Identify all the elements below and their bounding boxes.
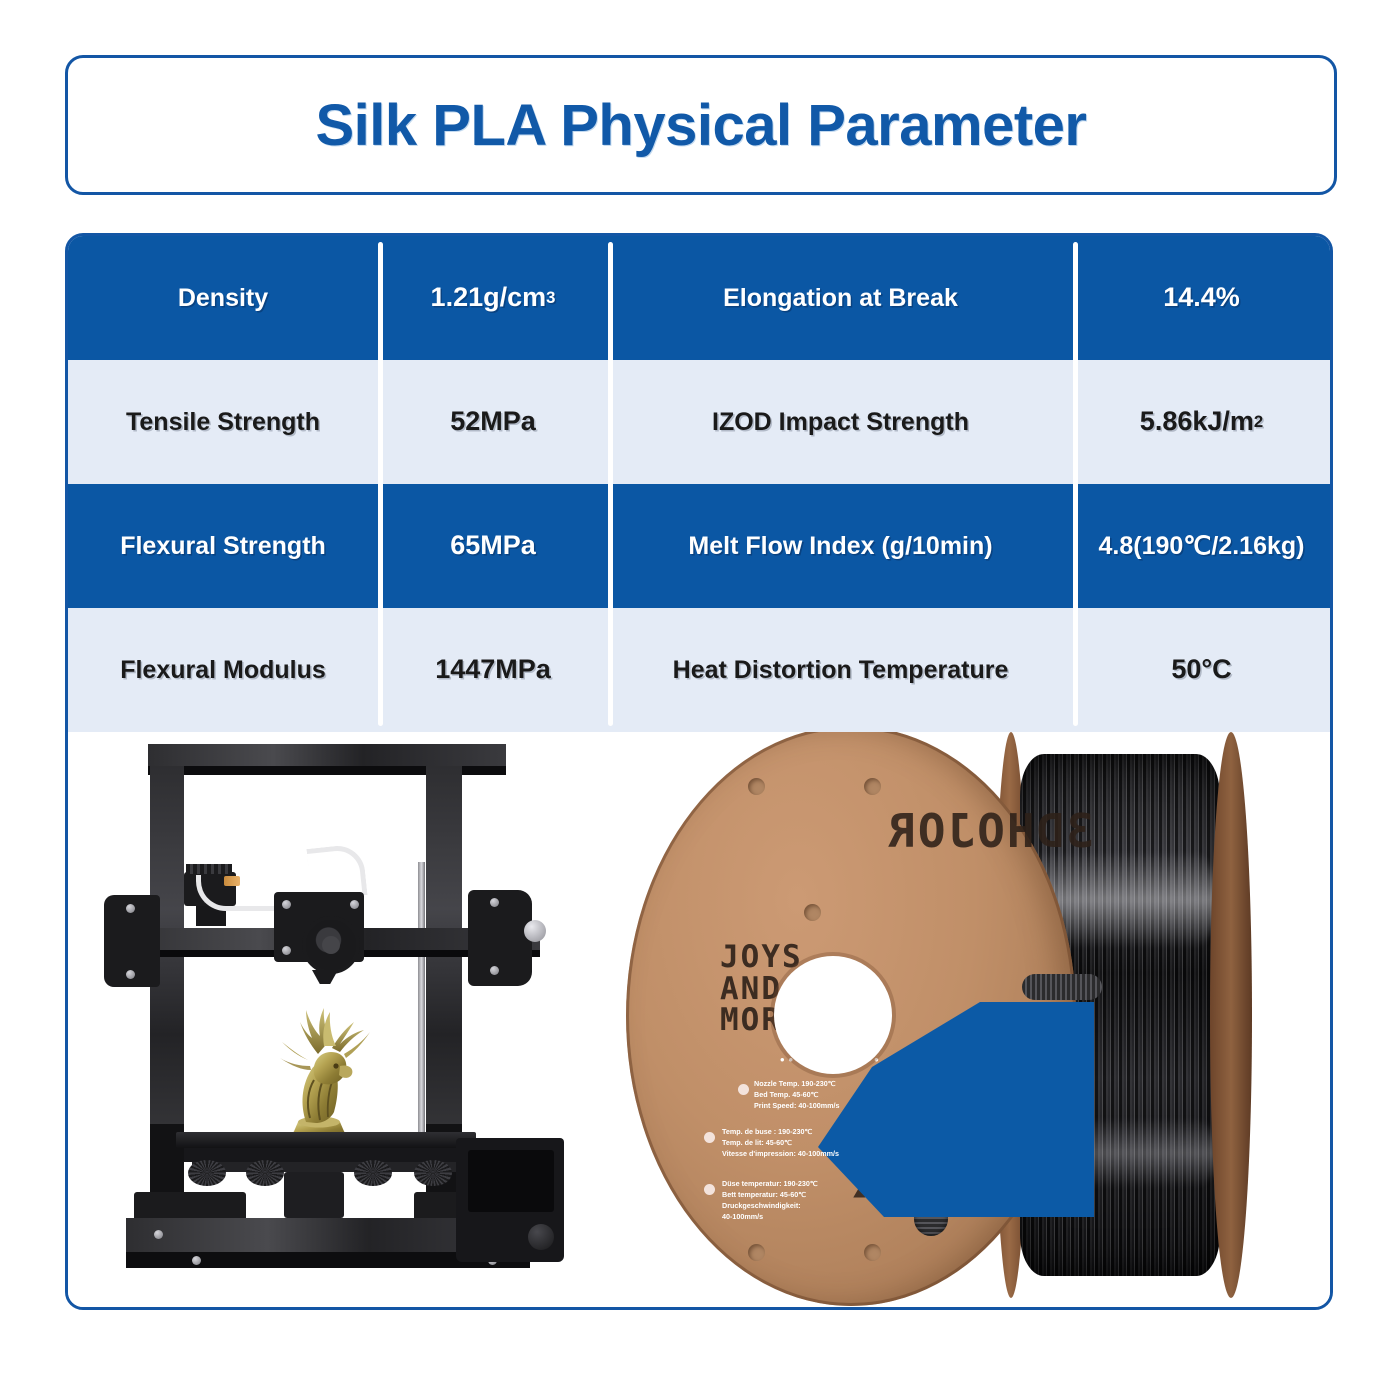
- printer-lead-screw: [418, 862, 425, 1162]
- table-row: Flexural Modulus 1447MPa Heat Distortion…: [68, 608, 1330, 732]
- table-row: Tensile Strength 52MPa IZOD Impact Stren…: [68, 360, 1330, 484]
- bed-leveling-knob: [188, 1160, 226, 1186]
- spec-value: 14.4%: [1073, 236, 1330, 360]
- spool-cardboard-disc: 3DHOJOR JOYS AND MORE: [626, 732, 1076, 1306]
- bolt: [154, 1230, 163, 1239]
- bed-leveling-knob: [246, 1160, 284, 1186]
- printer-right-bracket: [468, 890, 532, 986]
- product-photos: 3DHOJOR JOYS AND MORE: [68, 732, 1330, 1310]
- title-banner: Silk PLA Physical Parameter: [65, 55, 1337, 195]
- printed-dragon-model: [264, 986, 374, 1148]
- bed-leveling-knob: [354, 1160, 392, 1186]
- spec-line: Temp. de lit: 45-60℃: [722, 1137, 839, 1148]
- label-specs-english: Nozzle Temp. 190-230℃ Bed Temp. 45-60℃ P…: [754, 1078, 840, 1111]
- filament-spool-photo: 3DHOJOR JOYS AND MORE: [626, 732, 1326, 1310]
- nozzle: [312, 970, 338, 984]
- spec-value-text: 65MPa: [450, 530, 536, 561]
- spec-value-sup: 3: [546, 288, 555, 307]
- spec-line: Düse temperatur: 190-230℃: [722, 1178, 818, 1189]
- spec-line: Nozzle Temp. 190-230℃: [754, 1078, 840, 1089]
- spool-center-hub: [774, 956, 892, 1074]
- fan-hub: [322, 936, 340, 954]
- spec-line: 40-100mm/s: [722, 1211, 818, 1222]
- spec-line: Temp. de buse : 190-230℃: [722, 1126, 839, 1137]
- extruder-fins: [186, 864, 232, 874]
- language-bullet-icon: [738, 1084, 749, 1095]
- spec-line: Vitesse d'impression: 40-100mm/s: [722, 1148, 839, 1159]
- language-bullet-icon: [704, 1132, 715, 1143]
- table-row: Density 1.21g/cm3 Elongation at Break 14…: [68, 236, 1330, 360]
- brand-logo: 3DHOJOR: [774, 804, 1094, 860]
- spec-value-text: 1.21g/cm: [431, 282, 547, 313]
- bolt: [490, 966, 499, 975]
- label-specs-french: Temp. de buse : 190-230℃ Temp. de lit: 4…: [722, 1126, 839, 1159]
- bolt: [282, 900, 291, 909]
- coil-flange-right: [1210, 732, 1252, 1298]
- bolt: [192, 1256, 201, 1265]
- bolt: [350, 900, 359, 909]
- language-bullet-icon: [704, 1184, 715, 1195]
- filament-side-slot: [1022, 974, 1102, 1000]
- bolt: [490, 898, 499, 907]
- label-specs-german: Düse temperatur: 190-230℃ Bett temperatu…: [722, 1178, 818, 1223]
- spool-hole: [804, 904, 821, 921]
- spec-label: Flexural Strength: [68, 484, 378, 608]
- spec-value: 4.8(190℃/2.16kg): [1073, 484, 1330, 608]
- spec-value-sup: 2: [1254, 412, 1263, 431]
- spec-label: IZOD Impact Strength: [608, 360, 1073, 484]
- spec-table: Density 1.21g/cm3 Elongation at Break 14…: [68, 236, 1330, 732]
- y-axis-motor: [284, 1172, 344, 1218]
- content-panel: Density 1.21g/cm3 Elongation at Break 14…: [65, 233, 1333, 1310]
- spec-value: 65MPa: [378, 484, 608, 608]
- lcd-screen[interactable]: [468, 1150, 554, 1212]
- bolt: [282, 946, 291, 955]
- spec-value: 1447MPa: [378, 608, 608, 732]
- spec-value-text: 4.8(190℃/2.16kg): [1099, 532, 1305, 561]
- bed-leveling-knob: [414, 1160, 452, 1186]
- control-knob[interactable]: [528, 1224, 554, 1250]
- spec-line: Print Speed: 40-100mm/s: [754, 1100, 840, 1111]
- spec-line: Bed Temp. 45-60℃: [754, 1089, 840, 1100]
- spec-label: Heat Distortion Temperature: [608, 608, 1073, 732]
- product-infographic: Silk PLA Physical Parameter Density 1.21…: [0, 0, 1400, 1400]
- belt-tension-knob: [524, 920, 546, 942]
- printer-top-rail: [148, 744, 506, 766]
- spool-hole: [864, 1244, 881, 1261]
- spec-value: 52MPa: [378, 360, 608, 484]
- bolt: [126, 970, 135, 979]
- spec-label: Tensile Strength: [68, 360, 378, 484]
- spec-label: Melt Flow Index (g/10min): [608, 484, 1073, 608]
- spec-label: Flexural Modulus: [68, 608, 378, 732]
- printer-photo: [96, 732, 566, 1310]
- spec-value: 5.86kJ/m2: [1073, 360, 1330, 484]
- spec-value-text: 5.86kJ/m: [1140, 406, 1254, 437]
- page-title: Silk PLA Physical Parameter: [316, 92, 1087, 159]
- spool-hole: [748, 1244, 765, 1261]
- spec-line: Bett temperatur: 45-60℃: [722, 1189, 818, 1200]
- spec-value-text: 1447MPa: [435, 654, 551, 685]
- spec-value-text: 50°C: [1171, 654, 1231, 685]
- spec-label: Elongation at Break: [608, 236, 1073, 360]
- heated-bed: [176, 1132, 476, 1148]
- bolt: [126, 904, 135, 913]
- spec-line: Druckgeschwindigkeit:: [722, 1200, 818, 1211]
- table-row: Flexural Strength 65MPa Melt Flow Index …: [68, 484, 1330, 608]
- spec-value: 1.21g/cm3: [378, 236, 608, 360]
- spool-hole: [748, 778, 765, 795]
- spec-value-text: 52MPa: [450, 406, 536, 437]
- spec-label: Density: [68, 236, 378, 360]
- spec-value-text: 14.4%: [1163, 282, 1240, 313]
- spool-hole: [864, 778, 881, 795]
- spec-value: 50°C: [1073, 608, 1330, 732]
